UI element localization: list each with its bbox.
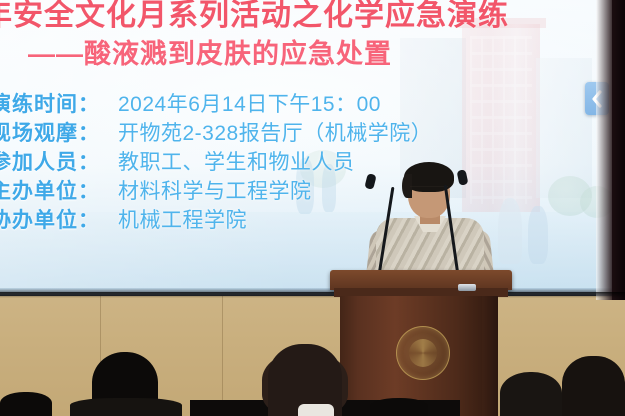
info-label: 主办单位： bbox=[0, 175, 118, 205]
podium-and-speaker bbox=[330, 150, 530, 416]
slide-title: 年安全文化月系列活动之化学应急演练 bbox=[0, 0, 542, 34]
info-row-time: 演练时间： 2024年6月14日下午15：00 bbox=[0, 88, 550, 117]
info-value: 材料科学与工程学院 bbox=[118, 175, 312, 205]
audience-head bbox=[500, 372, 562, 416]
info-label: 现场观摩： bbox=[0, 117, 118, 147]
wall-top-shadow bbox=[0, 292, 625, 298]
screenshot-root: 年安全文化月系列活动之化学应急演练 ——酸液溅到皮肤的应急处置 演练时间： 20… bbox=[0, 0, 625, 416]
info-label: 协办单位： bbox=[0, 204, 118, 234]
info-value: 2024年6月14日下午15：00 bbox=[118, 88, 381, 118]
info-label: 演练时间： bbox=[0, 88, 118, 118]
slide-subtitle: ——酸液溅到皮肤的应急处置 bbox=[28, 32, 548, 71]
audience-head bbox=[370, 398, 428, 416]
audience-shoulders bbox=[70, 398, 182, 416]
room-right-wall bbox=[596, 0, 613, 300]
info-label: 参加人员： bbox=[0, 146, 118, 176]
info-value: 教职工、学生和物业人员 bbox=[118, 146, 355, 176]
audience-collar bbox=[298, 404, 334, 416]
wall-panel-seam bbox=[222, 292, 223, 416]
audience-head bbox=[562, 356, 625, 416]
university-emblem bbox=[396, 326, 450, 380]
podium-right-edge bbox=[482, 296, 498, 416]
podium-top-surface bbox=[330, 270, 512, 290]
presenter-glasses bbox=[410, 186, 448, 195]
presentation-clicker bbox=[458, 284, 476, 291]
audience-head bbox=[0, 392, 52, 416]
info-value: 开物苑2-328报告厅（机械学院） bbox=[118, 117, 432, 147]
info-value: 机械工程学院 bbox=[118, 204, 247, 234]
room-right-dark-edge bbox=[612, 0, 625, 300]
info-row-location: 现场观摩： 开物苑2-328报告厅（机械学院） bbox=[0, 117, 550, 146]
